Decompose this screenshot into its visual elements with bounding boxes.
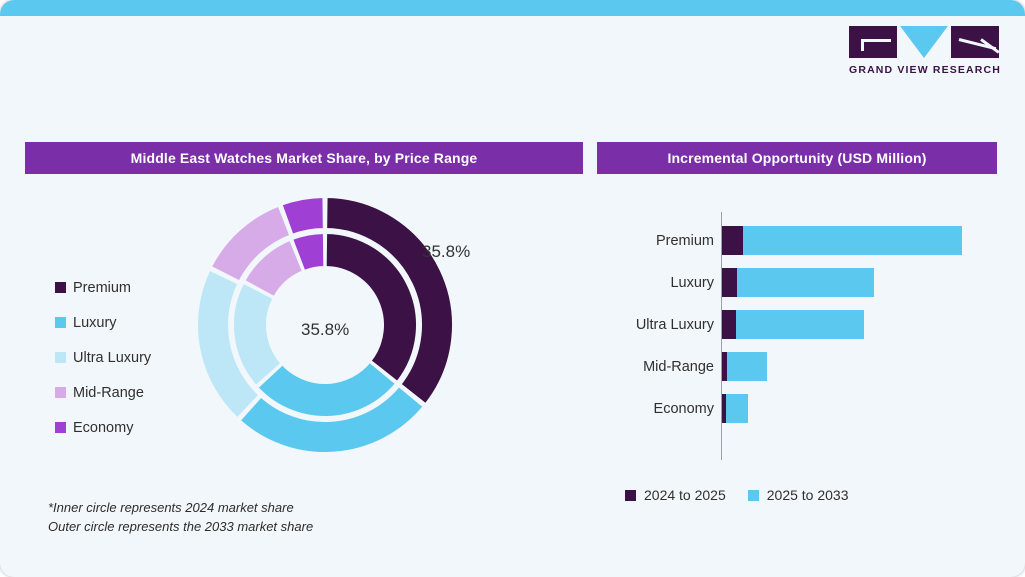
legend-swatch-luxury xyxy=(55,317,66,328)
bar-segment-2025-2033-mid-range[interactable] xyxy=(727,352,767,381)
legend-label-premium: Premium xyxy=(73,280,131,296)
bar-row-mid-range[interactable]: Mid-Range xyxy=(610,352,1000,381)
legend-item-premium[interactable]: Premium xyxy=(55,270,151,305)
legend-swatch-mid-range xyxy=(55,387,66,398)
logo-letter-v-icon xyxy=(900,26,948,58)
bar-row-economy[interactable]: Economy xyxy=(610,394,1000,423)
bar-segment-2024-2025-premium[interactable] xyxy=(722,226,743,255)
legend-item-luxury[interactable]: Luxury xyxy=(55,305,151,340)
bar-legend-swatch-2025-2033 xyxy=(748,490,759,501)
legend-item-ultra-luxury[interactable]: Ultra Luxury xyxy=(55,340,151,375)
bar-legend-swatch-2024-2025 xyxy=(625,490,636,501)
bar-track-premium xyxy=(722,226,962,255)
bar-track-luxury xyxy=(722,268,874,297)
gvr-logo: GRAND VIEW RESEARCH xyxy=(849,26,1001,76)
footnote-line-2: Outer circle represents the 2033 market … xyxy=(48,518,313,537)
bar-track-mid-range xyxy=(722,352,767,381)
logo-wordmark: GRAND VIEW RESEARCH xyxy=(849,64,1001,76)
nested-donut-chart: 35.8% xyxy=(197,197,453,453)
legend-label-ultra-luxury: Ultra Luxury xyxy=(73,350,151,366)
bar-chart-legend: 2024 to 2025 2025 to 2033 xyxy=(625,487,849,503)
legend-item-economy[interactable]: Economy xyxy=(55,410,151,445)
footnote-line-1: *Inner circle represents 2024 market sha… xyxy=(48,499,313,518)
legend-swatch-ultra-luxury xyxy=(55,352,66,363)
bar-label-luxury: Luxury xyxy=(610,268,714,297)
legend-swatch-premium xyxy=(55,282,66,293)
bar-legend-item-2025-2033[interactable]: 2025 to 2033 xyxy=(748,487,849,503)
bar-segment-2025-2033-ultra-luxury[interactable] xyxy=(736,310,864,339)
logo-letter-r-icon xyxy=(951,26,999,58)
donut-center-percentage: 35.8% xyxy=(301,320,411,340)
incremental-opportunity-bar-chart: Premium Luxury Ultra Luxury Mid-Range xyxy=(610,208,1000,463)
bar-row-luxury[interactable]: Luxury xyxy=(610,268,1000,297)
bar-segment-2025-2033-economy[interactable] xyxy=(726,394,748,423)
bar-label-ultra-luxury: Ultra Luxury xyxy=(610,310,714,339)
bar-legend-label-2024-2025: 2024 to 2025 xyxy=(644,487,726,503)
legend-label-mid-range: Mid-Range xyxy=(73,385,144,401)
bar-segment-2024-2025-luxury[interactable] xyxy=(722,268,737,297)
bar-legend-label-2025-2033: 2025 to 2033 xyxy=(767,487,849,503)
bar-label-economy: Economy xyxy=(610,394,714,423)
bar-track-economy xyxy=(722,394,748,423)
bar-segment-2025-2033-premium[interactable] xyxy=(743,226,962,255)
legend-label-luxury: Luxury xyxy=(73,315,117,331)
donut-legend: Premium Luxury Ultra Luxury Mid-Range Ec… xyxy=(55,270,151,445)
left-panel-title: Middle East Watches Market Share, by Pri… xyxy=(25,142,583,174)
bar-segment-2025-2033-luxury[interactable] xyxy=(737,268,874,297)
donut-outer-percentage: 35.8% xyxy=(422,242,470,262)
top-accent-bar xyxy=(0,0,1025,16)
gvr-logo-icon xyxy=(849,26,1001,58)
bar-track-ultra-luxury xyxy=(722,310,864,339)
bar-row-ultra-luxury[interactable]: Ultra Luxury xyxy=(610,310,1000,339)
donut-footnote: *Inner circle represents 2024 market sha… xyxy=(48,499,313,537)
logo-letter-g-icon xyxy=(849,26,897,58)
legend-item-mid-range[interactable]: Mid-Range xyxy=(55,375,151,410)
bar-label-mid-range: Mid-Range xyxy=(610,352,714,381)
bar-segment-2024-2025-ultra-luxury[interactable] xyxy=(722,310,736,339)
right-panel-title: Incremental Opportunity (USD Million) xyxy=(597,142,997,174)
bar-legend-item-2024-2025[interactable]: 2024 to 2025 xyxy=(625,487,726,503)
bar-label-premium: Premium xyxy=(610,226,714,255)
legend-swatch-economy xyxy=(55,422,66,433)
legend-label-economy: Economy xyxy=(73,420,133,436)
infographic-canvas: GRAND VIEW RESEARCH Middle East Watches … xyxy=(0,0,1025,577)
bar-row-premium[interactable]: Premium xyxy=(610,226,1000,255)
